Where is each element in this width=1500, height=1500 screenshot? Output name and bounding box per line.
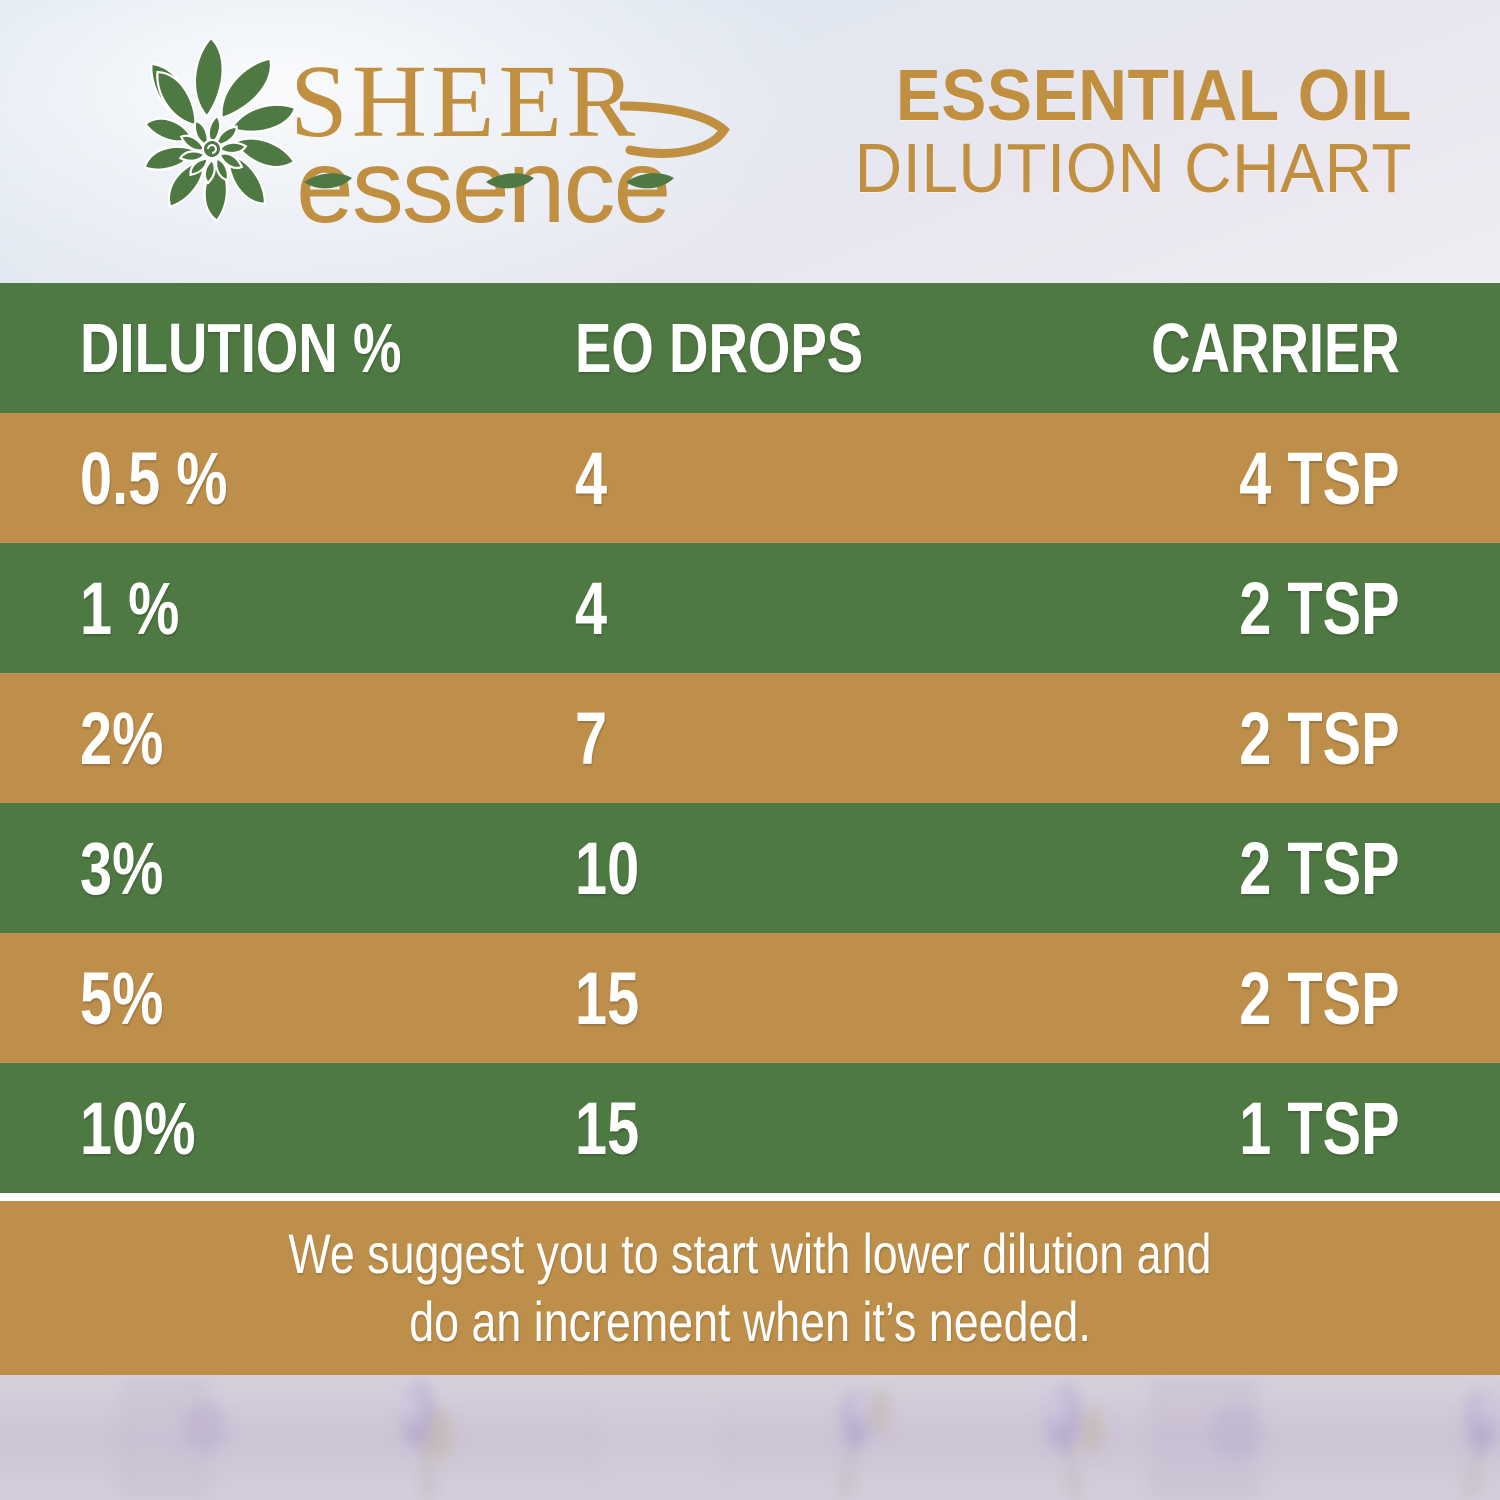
page-title: ESSENTIAL OIL DILUTION CHART <box>819 62 1412 202</box>
column-header-carrier: CARRIER <box>1151 308 1400 388</box>
note-line-1: We suggest you to start with lower dilut… <box>288 1220 1211 1288</box>
brand-wordmark: SHEER essence <box>290 44 710 244</box>
header-banner: SHEER essence <box>0 0 1500 283</box>
table-row: 3% 10 2 TSP <box>0 803 1500 933</box>
cell-dilution: 3% <box>80 826 163 911</box>
cell-carrier: 4 TSP <box>1240 436 1400 521</box>
cell-dilution: 0.5 % <box>80 436 228 521</box>
cell-eo-drops: 4 <box>575 436 607 521</box>
cell-eo-drops: 10 <box>575 826 639 911</box>
brand-logo: SHEER essence <box>112 40 712 245</box>
cell-dilution: 5% <box>80 956 163 1041</box>
cell-carrier: 2 TSP <box>1240 826 1400 911</box>
note-line-2: do an increment when it’s needed. <box>409 1288 1091 1356</box>
brand-name-top: SHEER <box>290 50 639 154</box>
table-row: 2% 7 2 TSP <box>0 673 1500 803</box>
column-header-dilution: DILUTION % <box>80 308 402 388</box>
dilution-table: DILUTION % EO DROPS CARRIER 0.5 % 4 4 TS… <box>0 283 1500 1193</box>
brand-name-bottom: essence <box>296 142 696 242</box>
table-header-row: DILUTION % EO DROPS CARRIER <box>0 283 1500 413</box>
svg-text:essence: essence <box>296 142 669 242</box>
table-row: 1 % 4 2 TSP <box>0 543 1500 673</box>
dilution-chart-infographic: SHEER essence <box>0 0 1500 1500</box>
page-title-line-2: DILUTION CHART <box>855 135 1412 202</box>
cell-eo-drops: 15 <box>575 956 639 1041</box>
cell-eo-drops: 15 <box>575 1086 639 1171</box>
page-title-line-1: ESSENTIAL OIL <box>855 62 1412 131</box>
table-row: 5% 15 2 TSP <box>0 933 1500 1063</box>
cell-carrier: 1 TSP <box>1240 1086 1400 1171</box>
column-header-eo-drops: EO DROPS <box>575 308 863 388</box>
cell-eo-drops: 7 <box>575 696 607 781</box>
table-row: 10% 15 1 TSP <box>0 1063 1500 1193</box>
leaf-flower-icon <box>112 40 312 240</box>
cell-dilution: 1 % <box>80 566 179 651</box>
suggestion-note: We suggest you to start with lower dilut… <box>0 1201 1500 1375</box>
cell-eo-drops: 4 <box>575 566 607 651</box>
lavender-field-photo <box>0 1375 1500 1500</box>
cell-dilution: 2% <box>80 696 163 781</box>
cell-carrier: 2 TSP <box>1240 566 1400 651</box>
table-row: 0.5 % 4 4 TSP <box>0 413 1500 543</box>
cell-carrier: 2 TSP <box>1240 696 1400 781</box>
cell-dilution: 10% <box>80 1086 196 1171</box>
cell-carrier: 2 TSP <box>1240 956 1400 1041</box>
